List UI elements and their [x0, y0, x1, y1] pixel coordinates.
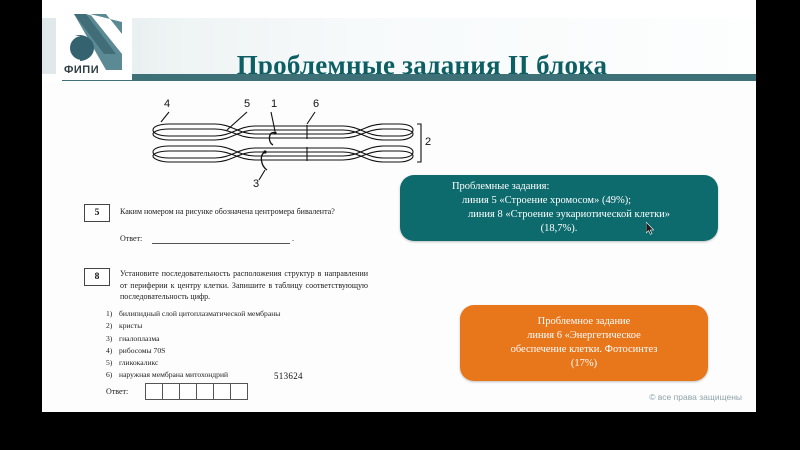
slide-header: Проблемные задания II блока — [42, 18, 756, 74]
option-label: рибосомы 70S — [119, 346, 165, 355]
figure-label-2: 2 — [425, 136, 431, 148]
figure-label-4: 4 — [164, 98, 170, 110]
option-label: гликокаликс — [119, 358, 158, 367]
answer-cell[interactable] — [230, 383, 248, 400]
presentation-slide: Проблемные задания II блока ФИПИ — [42, 0, 756, 412]
list-item: 6)наружная мембрана митохондрий — [106, 369, 280, 381]
list-item: 5)гликокаликс — [106, 357, 280, 369]
option-marker: 6) — [106, 369, 119, 381]
list-item: 2)кристы — [106, 320, 280, 332]
callout-teal-line-1: Проблемные задания: — [448, 180, 670, 194]
option-marker: 3) — [106, 333, 119, 345]
logo-label: ФИПИ — [64, 64, 99, 76]
question-5-answer-label: Ответ: — [120, 234, 142, 243]
question-8-answer-grid[interactable] — [145, 383, 248, 400]
callout-problem-task-line6: Проблемное задание линия 6 «Энергетическ… — [460, 305, 708, 381]
callout-problem-tasks: Проблемные задания: линия 5 «Строение хр… — [400, 175, 718, 241]
slide-body: 4 5 1 6 3 2 5 Каким номером на рисунке о… — [42, 82, 756, 412]
answer-cell[interactable] — [179, 383, 197, 400]
answer-cell[interactable] — [162, 383, 180, 400]
fipi-logo-icon: ФИПИ — [56, 8, 132, 80]
callout-teal-line-2: линия 5 «Строение хромосом» (49%); — [448, 194, 670, 208]
question-5-answer-dot: . — [292, 234, 294, 243]
answer-cell[interactable] — [213, 383, 231, 400]
question-8-sequence-answer: 513624 — [274, 371, 303, 381]
copyright-footer: © все права защищены — [649, 392, 742, 402]
list-item: 3)гиалоплазма — [106, 333, 280, 345]
question-5-text: Каким номером на рисунке обозначена цент… — [120, 206, 370, 218]
option-marker: 2) — [106, 320, 119, 332]
list-item: 1)билипидный слой цитоплазматической мем… — [106, 308, 280, 320]
header-rule-right — [162, 74, 756, 81]
figure-label-5: 5 — [244, 98, 250, 110]
screenshot-stage: Проблемные задания II блока ФИПИ — [0, 0, 800, 450]
figure-label-1: 1 — [271, 98, 277, 110]
answer-cell[interactable] — [196, 383, 214, 400]
option-label: билипидный слой цитоплазматической мембр… — [119, 309, 280, 318]
option-label: кристы — [119, 321, 142, 330]
question-8-text: Установите последовательность расположен… — [120, 268, 368, 303]
option-marker: 1) — [106, 308, 119, 320]
option-label: наружная мембрана митохондрий — [119, 370, 228, 379]
callout-orange-line-4: (17%) — [511, 357, 658, 371]
option-marker: 5) — [106, 357, 119, 369]
option-marker: 4) — [106, 345, 119, 357]
question-8-answer-label: Ответ: — [106, 387, 128, 396]
mouse-cursor-icon — [646, 222, 655, 235]
callout-orange-line-2: линия 6 «Энергетическое — [511, 329, 658, 343]
answer-cell[interactable] — [145, 383, 163, 400]
callout-teal-line-3: линия 8 «Строение эукариотической клетки… — [448, 208, 670, 222]
callout-orange-line-1: Проблемное задание — [511, 315, 658, 329]
question-8-options: 1)билипидный слой цитоплазматической мем… — [106, 308, 280, 382]
question-8-number: 8 — [84, 268, 110, 286]
question-5-number: 5 — [84, 204, 110, 222]
list-item: 4)рибосомы 70S — [106, 345, 280, 357]
figure-label-6: 6 — [313, 98, 319, 110]
callout-orange-line-3: обеспечение клетки. Фотосинтез — [511, 343, 658, 357]
figure-label-3: 3 — [253, 178, 259, 190]
callout-teal-line-4: (18,7%). — [448, 222, 670, 236]
option-label: гиалоплазма — [119, 334, 159, 343]
question-5-answer-input[interactable] — [152, 242, 290, 244]
bivalent-chromosome-diagram: 4 5 1 6 3 2 — [147, 100, 427, 188]
